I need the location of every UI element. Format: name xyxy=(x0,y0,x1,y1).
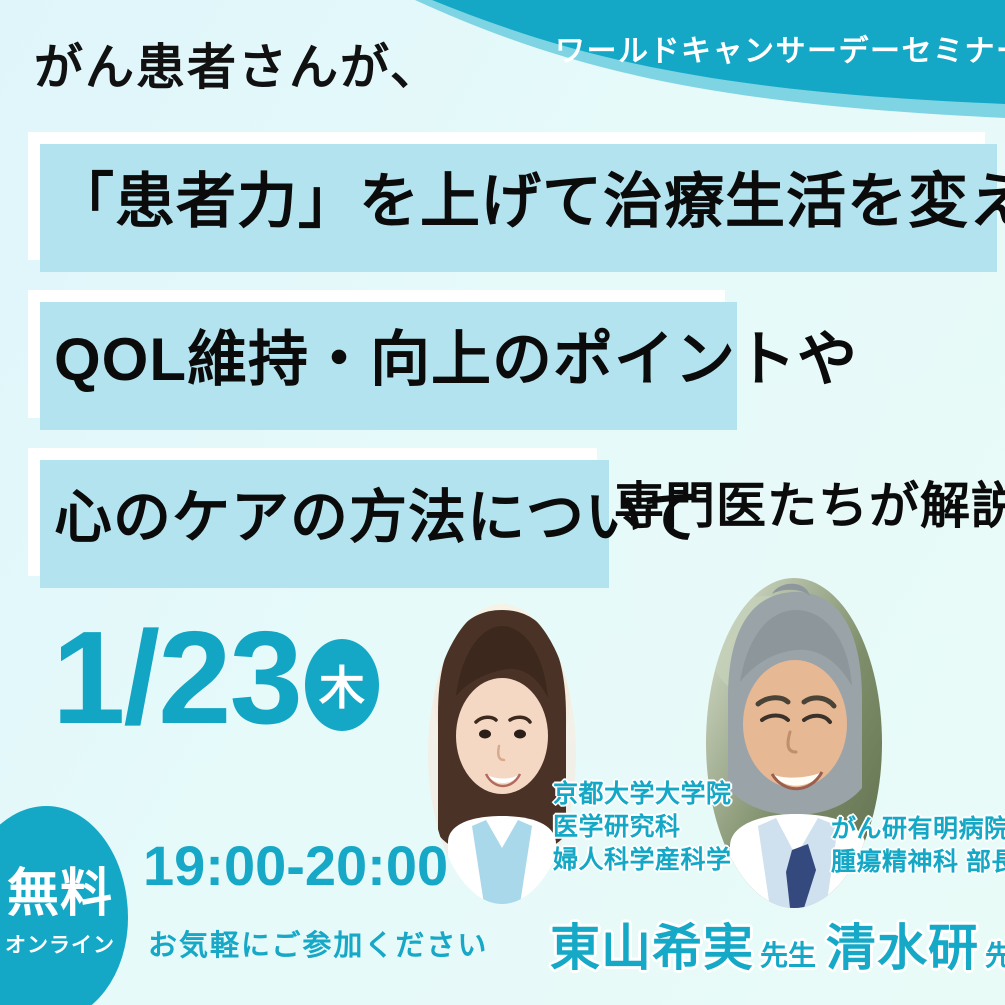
speaker-2-honorific: 先生 xyxy=(985,934,1005,974)
speaker-1-honorific: 先生 xyxy=(760,934,816,974)
seminar-poster: ワールドキャンサーデーセミナー がん患者さんが、 「患者力」を上げて治療生活を変… xyxy=(0,0,1005,1005)
headline-line-2: QOL維持・向上のポイントや xyxy=(28,311,858,398)
online-label: オンライン xyxy=(5,929,115,959)
headline-line-1: 「患者力」を上げて治療生活を変えるには xyxy=(28,153,1005,240)
speaker-1-name: 東山希実 先生 xyxy=(550,908,816,980)
speaker-1-name-text: 東山希実 xyxy=(550,908,754,980)
headline-box-2: QOL維持・向上のポイントや xyxy=(28,290,725,418)
speaker-1-affiliation: 京都大学大学院医学研究科婦人科学産科学 xyxy=(553,778,732,877)
free-online-badge: 無料 オンライン xyxy=(0,806,128,1005)
headline-tagline: 専門医たちが解説 xyxy=(614,466,1005,538)
headline-box-1: 「患者力」を上げて治療生活を変えるには xyxy=(28,132,985,260)
event-weekday-badge: 木 xyxy=(305,639,379,731)
free-label: 無料 xyxy=(7,868,113,920)
headline-line-3: 心のケアの方法について xyxy=(28,470,701,554)
speaker-2-name: 清水研 先生 xyxy=(826,908,1005,980)
seminar-banner-label: ワールドキャンサーデーセミナー xyxy=(555,26,1000,70)
join-note: お気軽にご参加ください xyxy=(148,922,488,964)
event-time: 19:00-20:00 xyxy=(143,833,448,898)
speaker-2-name-text: 清水研 xyxy=(826,908,979,980)
event-date: 1/23 xyxy=(52,612,301,744)
speaker-2-affiliation: がん研有明病院腫瘍精神科 部長 xyxy=(831,813,1005,879)
headline-box-3: 心のケアの方法について xyxy=(28,448,597,576)
headline-kicker: がん患者さんが、 xyxy=(34,28,441,99)
event-date-block: 1/23 木 xyxy=(52,612,379,744)
